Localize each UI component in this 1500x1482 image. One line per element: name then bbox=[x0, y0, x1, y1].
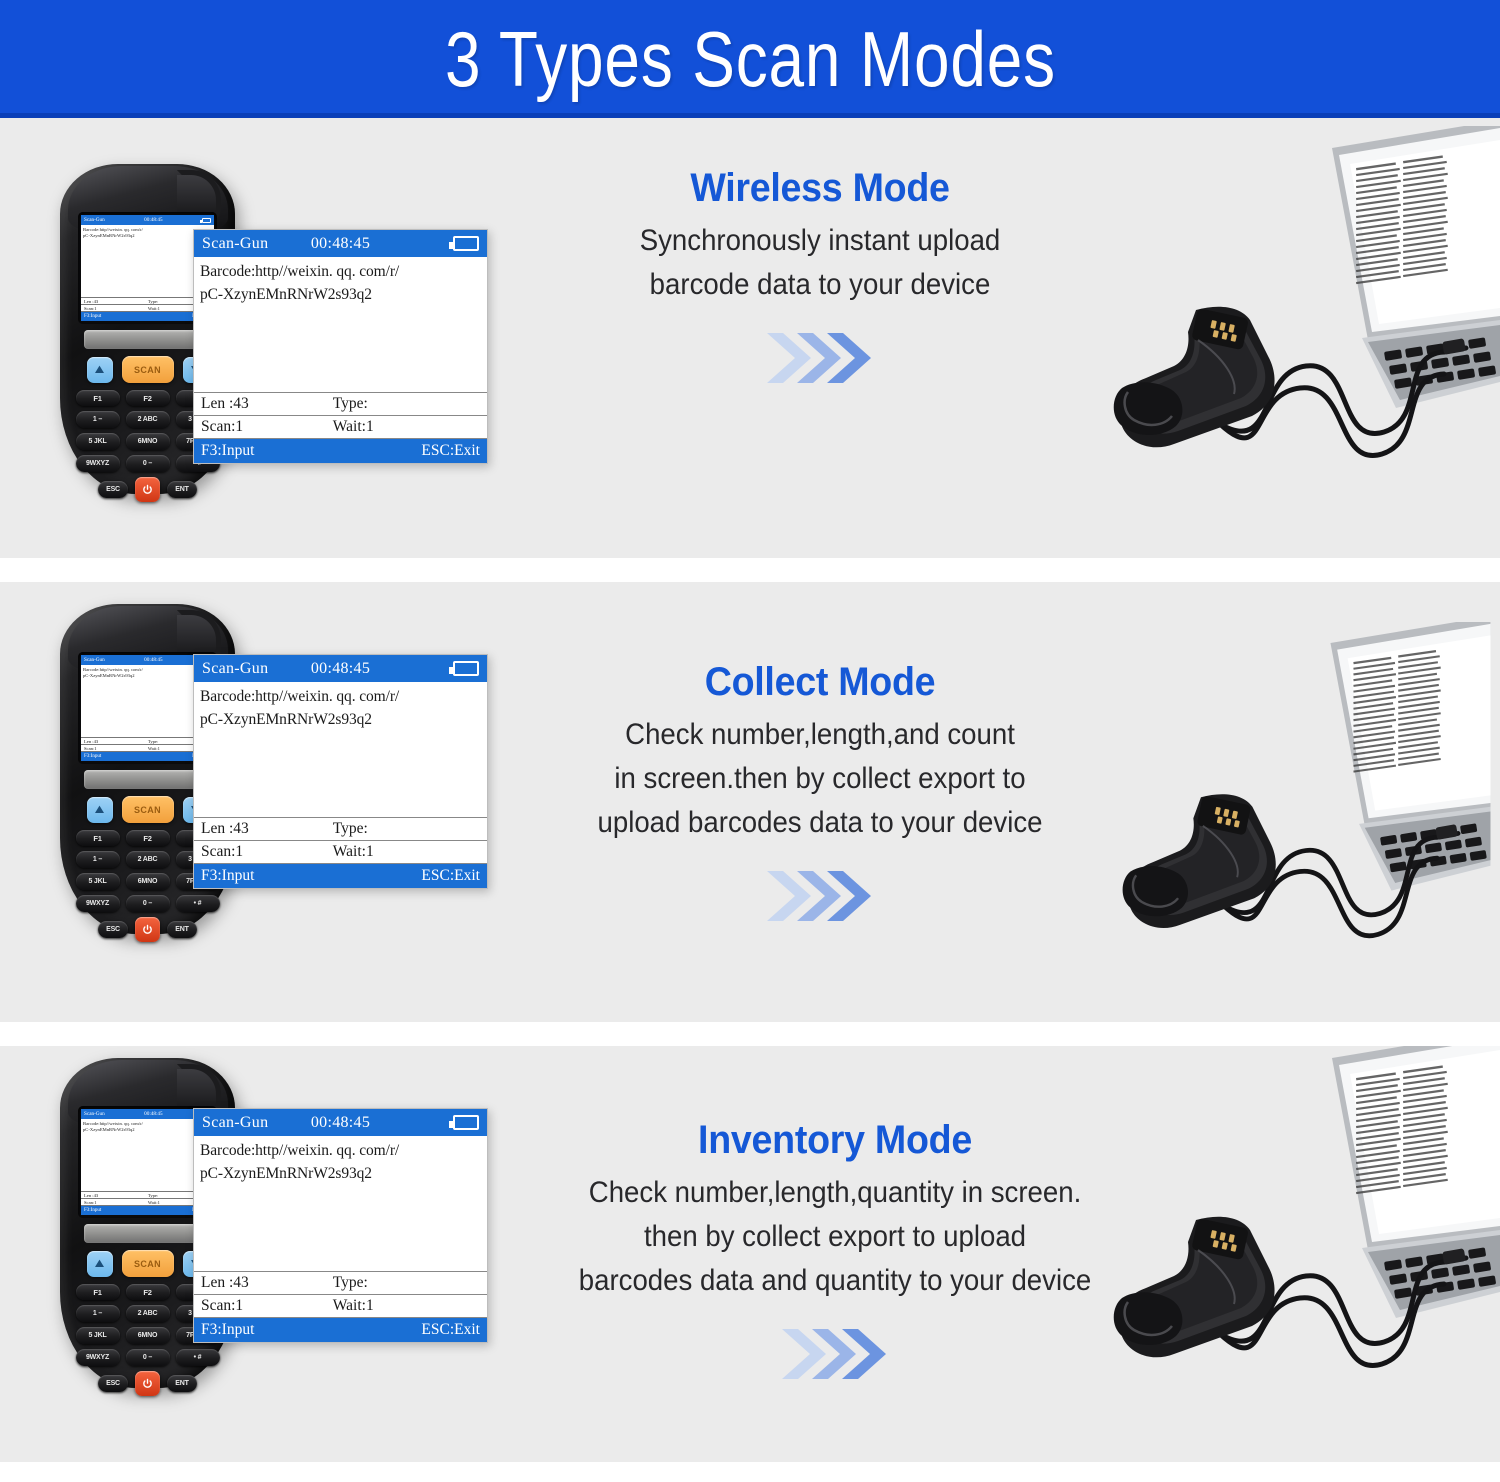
mini-lcd-statusbar: Scan-Gun 00:48:45 bbox=[81, 215, 214, 225]
panel-wireless-mode: Scan-Gun 00:48:45 Barcode:http//weixin. … bbox=[0, 118, 1500, 558]
mode-desc-collect-line2: in screen.then by collect export to bbox=[530, 757, 1110, 801]
lcd-scan: Scan:1 bbox=[194, 1297, 329, 1315]
lcd-footer-right: ESC:Exit bbox=[421, 1321, 480, 1339]
power-icon bbox=[142, 924, 153, 935]
key-6[interactable]: 6MNO bbox=[126, 1327, 170, 1344]
mode-desc-inventory-line3: barcodes data and quantity to your devic… bbox=[522, 1259, 1148, 1303]
power-key[interactable] bbox=[135, 917, 160, 942]
key-esc[interactable]: ESC bbox=[98, 1375, 128, 1392]
key-9[interactable]: 9WXYZ bbox=[76, 895, 120, 912]
lcd-barcode-line1: Barcode:http//weixin. qq. com/r/ bbox=[200, 1139, 481, 1162]
key-ent[interactable]: ENT bbox=[167, 1375, 197, 1392]
lcd-callout-inventory: Scan-Gun 00:48:45 Barcode:http//weixin. … bbox=[193, 1108, 488, 1343]
lcd-barcode-area: Barcode:http//weixin. qq. com/r/ pC-Xzyn… bbox=[194, 1136, 487, 1271]
lcd-type: Type: bbox=[329, 395, 368, 413]
lcd-footer: F3:Input ESC:Exit bbox=[194, 439, 487, 463]
lcd-barcode-line1: Barcode:http//weixin. qq. com/r/ bbox=[200, 685, 481, 708]
mini-lcd-wait: Wait:1 bbox=[145, 746, 160, 751]
key-f1[interactable]: F1 bbox=[76, 390, 120, 406]
panel-collect-mode: Scan-Gun 00:48:45 Barcode:http//weixin. … bbox=[0, 582, 1500, 1022]
keypad-row-3: 9WXYZ 0 – • # bbox=[71, 1349, 224, 1366]
keypad-row-bottom: ESC ENT bbox=[71, 917, 224, 942]
key-6[interactable]: 6MNO bbox=[126, 873, 170, 890]
mini-lcd-len: Len :43 bbox=[81, 1193, 145, 1198]
lcd-len: Len :43 bbox=[194, 820, 329, 838]
lcd-row-len: Len :43 Type: bbox=[194, 818, 487, 841]
mini-lcd-time: 00:48:45 bbox=[144, 1111, 162, 1117]
text-block-collect: Collect Mode Check number,length,and cou… bbox=[505, 660, 1135, 925]
lcd-footer: F3:Input ESC:Exit bbox=[194, 1318, 487, 1342]
up-arrow-key[interactable] bbox=[87, 1251, 113, 1277]
lcd-callout-collect: Scan-Gun 00:48:45 Barcode:http//weixin. … bbox=[193, 654, 488, 889]
mode-desc-inventory-line2: then by collect export to upload bbox=[522, 1215, 1148, 1259]
up-arrow-icon bbox=[94, 1259, 105, 1268]
lcd-title: Scan-Gun bbox=[202, 1114, 268, 1132]
key-f2[interactable]: F2 bbox=[126, 1284, 170, 1300]
lcd-row-scan: Scan:1 Wait:1 bbox=[194, 1295, 487, 1318]
power-icon bbox=[142, 484, 153, 495]
mini-lcd-footer-left: F3:Input bbox=[84, 1208, 101, 1213]
key-f1[interactable]: F1 bbox=[76, 830, 120, 846]
key-5[interactable]: 5 JKL bbox=[76, 873, 120, 890]
mini-lcd-scan: Scan:1 bbox=[81, 306, 145, 311]
lcd-len: Len :43 bbox=[194, 395, 329, 413]
mini-lcd-len: Len :43 bbox=[81, 739, 145, 744]
lcd-scan: Scan:1 bbox=[194, 843, 329, 861]
key-5[interactable]: 5 JKL bbox=[76, 1327, 120, 1344]
text-block-wireless: Wireless Mode Synchronously instant uplo… bbox=[530, 166, 1110, 387]
mini-lcd-scan: Scan:1 bbox=[81, 746, 145, 751]
key-esc[interactable]: ESC bbox=[98, 921, 128, 938]
key-symbol[interactable]: • # bbox=[176, 1349, 220, 1366]
lcd-statusbar: Scan-Gun 00:48:45 bbox=[194, 1109, 487, 1136]
mini-lcd-title: Scan-Gun bbox=[84, 1111, 105, 1117]
mini-lcd-type: Type: bbox=[145, 1193, 158, 1198]
triple-chevron-right-icon bbox=[495, 1325, 1175, 1383]
laptop-with-spreadsheet bbox=[1330, 622, 1490, 891]
lcd-barcode-line2: pC-XzynEMnRNrW2s93q2 bbox=[200, 1162, 481, 1185]
mode-title-inventory: Inventory Mode bbox=[515, 1118, 1154, 1163]
panel-divider-1 bbox=[0, 558, 1500, 582]
lcd-len: Len :43 bbox=[194, 1274, 329, 1292]
lcd-wait: Wait:1 bbox=[329, 843, 374, 861]
mode-title-collect: Collect Mode bbox=[524, 660, 1116, 705]
key-0[interactable]: 0 – bbox=[126, 895, 170, 912]
lcd-statusbar: Scan-Gun 00:48:45 bbox=[194, 230, 487, 257]
mini-lcd-time: 00:48:45 bbox=[144, 657, 162, 663]
scan-key[interactable]: SCAN bbox=[122, 796, 174, 823]
up-arrow-key[interactable] bbox=[87, 357, 113, 383]
up-arrow-key[interactable] bbox=[87, 797, 113, 823]
key-ent[interactable]: ENT bbox=[167, 481, 197, 498]
lcd-footer: F3:Input ESC:Exit bbox=[194, 864, 487, 888]
lcd-statusbar: Scan-Gun 00:48:45 bbox=[194, 655, 487, 682]
lcd-title: Scan-Gun bbox=[202, 660, 268, 678]
lcd-info-table: Len :43 Type: Scan:1 Wait:1 bbox=[194, 817, 487, 864]
key-6[interactable]: 6MNO bbox=[126, 433, 170, 450]
mini-lcd-title: Scan-Gun bbox=[84, 657, 105, 663]
lcd-footer-left: F3:Input bbox=[201, 867, 254, 885]
lcd-type: Type: bbox=[329, 1274, 368, 1292]
key-1[interactable]: 1 – bbox=[76, 411, 120, 428]
power-key[interactable] bbox=[135, 477, 160, 502]
triple-chevron-right-icon bbox=[505, 867, 1135, 925]
mode-desc-collect-line3: upload barcodes data to your device bbox=[530, 801, 1110, 845]
battery-icon bbox=[202, 218, 211, 223]
mode-desc-collect-line1: Check number,length,and count bbox=[530, 713, 1110, 757]
lcd-row-len: Len :43 Type: bbox=[194, 393, 487, 416]
lcd-row-scan: Scan:1 Wait:1 bbox=[194, 416, 487, 439]
power-icon bbox=[142, 1378, 153, 1389]
mini-lcd-len: Len :43 bbox=[81, 299, 145, 304]
page-header: 3 Types Scan Modes bbox=[0, 0, 1500, 118]
battery-icon bbox=[453, 1115, 479, 1130]
panel-inventory-mode: Scan-Gun 00:48:45 Barcode:http//weixin. … bbox=[0, 1046, 1500, 1462]
lcd-barcode-area: Barcode:http//weixin. qq. com/r/ pC-Xzyn… bbox=[194, 682, 487, 817]
mini-lcd-footer-left: F3:Input bbox=[84, 314, 101, 319]
laptop-with-spreadsheet bbox=[1332, 126, 1500, 408]
lcd-barcode-area: Barcode:http//weixin. qq. com/r/ pC-Xzyn… bbox=[194, 257, 487, 392]
key-0[interactable]: 0 – bbox=[126, 1349, 170, 1366]
triple-chevron-right-icon bbox=[530, 329, 1110, 387]
lcd-scan: Scan:1 bbox=[194, 418, 329, 436]
key-2[interactable]: 2 ABC bbox=[126, 1305, 170, 1322]
key-2[interactable]: 2 ABC bbox=[126, 851, 170, 868]
lcd-barcode-line1: Barcode:http//weixin. qq. com/r/ bbox=[200, 260, 481, 283]
key-1[interactable]: 1 – bbox=[76, 851, 120, 868]
text-block-inventory: Inventory Mode Check number,length,quant… bbox=[495, 1118, 1175, 1383]
up-arrow-icon bbox=[94, 805, 105, 814]
mini-lcd-title: Scan-Gun bbox=[84, 217, 105, 223]
key-f2[interactable]: F2 bbox=[126, 830, 170, 846]
key-9[interactable]: 9WXYZ bbox=[76, 1349, 120, 1366]
key-ent[interactable]: ENT bbox=[167, 921, 197, 938]
key-symbol[interactable]: • # bbox=[176, 895, 220, 912]
lcd-info-table: Len :43 Type: Scan:1 Wait:1 bbox=[194, 392, 487, 439]
lcd-title: Scan-Gun bbox=[202, 235, 268, 253]
mini-lcd-type: Type: bbox=[145, 739, 158, 744]
key-esc[interactable]: ESC bbox=[98, 481, 128, 498]
key-f2[interactable]: F2 bbox=[126, 390, 170, 406]
mini-lcd-type: Type: bbox=[145, 299, 158, 304]
mode-title-wireless: Wireless Mode bbox=[547, 166, 1092, 211]
lcd-footer-right: ESC:Exit bbox=[421, 442, 480, 460]
mini-lcd-footer-left: F3:Input bbox=[84, 754, 101, 759]
lcd-barcode-line2: pC-XzynEMnRNrW2s93q2 bbox=[200, 708, 481, 731]
lcd-footer-right: ESC:Exit bbox=[421, 867, 480, 885]
keypad-row-3: 9WXYZ 0 – • # bbox=[71, 895, 224, 912]
lcd-time: 00:48:45 bbox=[311, 1114, 370, 1132]
lcd-row-scan: Scan:1 Wait:1 bbox=[194, 841, 487, 864]
key-2[interactable]: 2 ABC bbox=[126, 411, 170, 428]
lcd-wait: Wait:1 bbox=[329, 1297, 374, 1315]
keypad-row-bottom: ESC ENT bbox=[71, 1371, 224, 1396]
lcd-callout-wireless: Scan-Gun 00:48:45 Barcode:http//weixin. … bbox=[193, 229, 488, 464]
mini-lcd-wait: Wait:1 bbox=[145, 306, 160, 311]
lcd-footer-left: F3:Input bbox=[201, 1321, 254, 1339]
key-9[interactable]: 9WXYZ bbox=[76, 455, 120, 472]
cradle-laptop-group-collect bbox=[1100, 622, 1500, 1022]
panel-divider-2 bbox=[0, 1022, 1500, 1046]
scan-key[interactable]: SCAN bbox=[122, 1250, 174, 1277]
keypad-row-bottom: ESC ENT bbox=[71, 477, 224, 502]
mini-lcd-wait: Wait:1 bbox=[145, 1200, 160, 1205]
lcd-time: 00:48:45 bbox=[311, 660, 370, 678]
lcd-info-table: Len :43 Type: Scan:1 Wait:1 bbox=[194, 1271, 487, 1318]
lcd-type: Type: bbox=[329, 820, 368, 838]
mini-lcd-scan: Scan:1 bbox=[81, 1200, 145, 1205]
up-arrow-icon bbox=[94, 365, 105, 374]
key-f1[interactable]: F1 bbox=[76, 1284, 120, 1300]
key-1[interactable]: 1 – bbox=[76, 1305, 120, 1322]
key-5[interactable]: 5 JKL bbox=[76, 433, 120, 450]
key-0[interactable]: 0 – bbox=[126, 455, 170, 472]
mode-desc-inventory-line1: Check number,length,quantity in screen. bbox=[522, 1171, 1148, 1215]
cradle-laptop-group-wireless bbox=[1100, 126, 1500, 551]
scan-key[interactable]: SCAN bbox=[122, 356, 174, 383]
lcd-footer-left: F3:Input bbox=[201, 442, 254, 460]
mini-lcd-time: 00:48:45 bbox=[144, 217, 162, 223]
battery-icon bbox=[453, 661, 479, 676]
lcd-wait: Wait:1 bbox=[329, 418, 374, 436]
lcd-row-len: Len :43 Type: bbox=[194, 1272, 487, 1295]
laptop-with-spreadsheet bbox=[1332, 1046, 1500, 1318]
mode-desc-wireless-line1: Synchronously instant upload bbox=[553, 219, 1087, 263]
cradle-laptop-group-inventory bbox=[1100, 1046, 1500, 1461]
mode-desc-wireless-line2: barcode data to your device bbox=[553, 263, 1087, 307]
lcd-barcode-line2: pC-XzynEMnRNrW2s93q2 bbox=[200, 283, 481, 306]
page-title: 3 Types Scan Modes bbox=[445, 14, 1056, 105]
battery-icon bbox=[453, 236, 479, 251]
power-key[interactable] bbox=[135, 1371, 160, 1396]
lcd-time: 00:48:45 bbox=[311, 235, 370, 253]
